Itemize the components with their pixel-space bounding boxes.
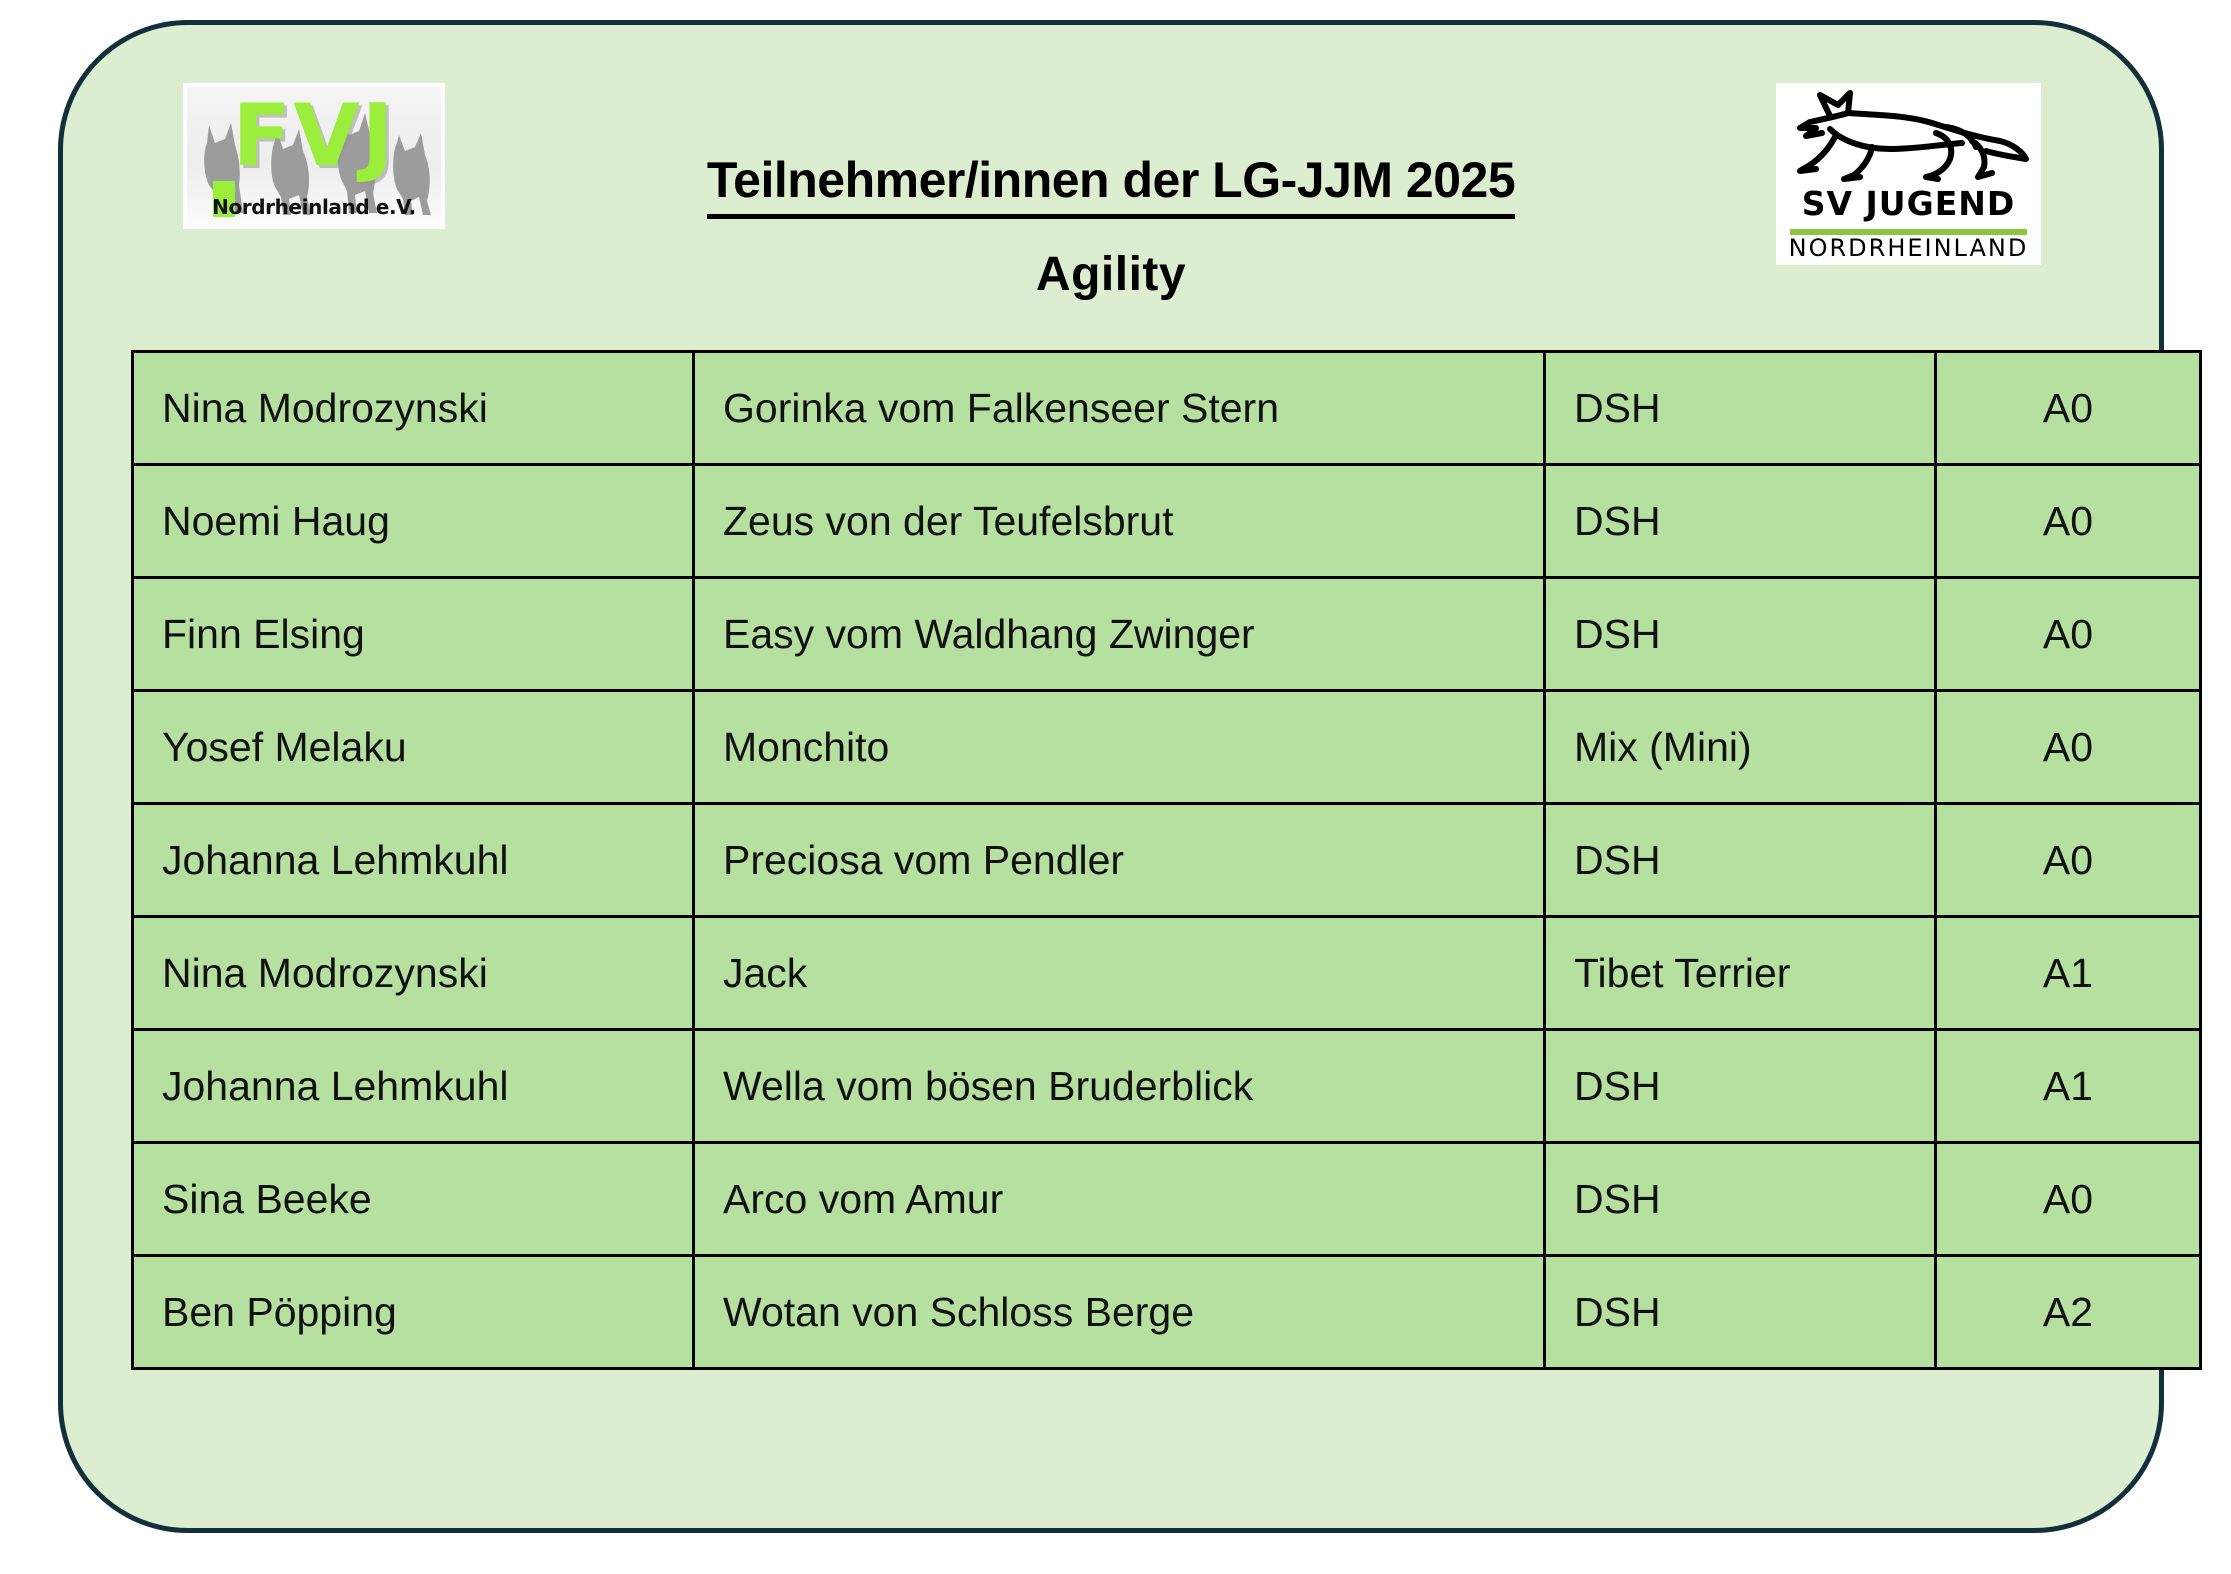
cell-handler: Sina Beeke bbox=[133, 1143, 694, 1256]
cell-class: A0 bbox=[1936, 804, 2201, 917]
cell-handler: Nina Modrozynski bbox=[133, 917, 694, 1030]
cell-dog: Gorinka vom Falkenseer Stern bbox=[694, 352, 1545, 465]
cell-dog: Wella vom bösen Bruderblick bbox=[694, 1030, 1545, 1143]
running-shepherd-dog-icon bbox=[1786, 89, 2031, 189]
cell-class: A1 bbox=[1936, 917, 2201, 1030]
cell-breed: Mix (Mini) bbox=[1545, 691, 1936, 804]
cell-class: A0 bbox=[1936, 691, 2201, 804]
cell-class: A0 bbox=[1936, 578, 2201, 691]
slide-panel: FVJ Nordrheinland e.V. Teilnehmer/innen … bbox=[58, 20, 2164, 1533]
page-title-text: Teilnehmer/innen der LG-JJM 2025 bbox=[707, 151, 1515, 219]
table-row: Ben Pöpping Wotan von Schloss Berge DSH … bbox=[133, 1256, 2201, 1369]
cell-breed: DSH bbox=[1545, 1143, 1936, 1256]
cell-class: A0 bbox=[1936, 465, 2201, 578]
cell-dog: Zeus von der Teufelsbrut bbox=[694, 465, 1545, 578]
cell-dog: Easy vom Waldhang Zwinger bbox=[694, 578, 1545, 691]
sv-jugend-subtitle: NORDRHEINLAND bbox=[1776, 235, 2041, 261]
cell-breed: Tibet Terrier bbox=[1545, 917, 1936, 1030]
table-row: Noemi Haug Zeus von der Teufelsbrut DSH … bbox=[133, 465, 2201, 578]
cell-class: A0 bbox=[1936, 352, 2201, 465]
cell-handler: Noemi Haug bbox=[133, 465, 694, 578]
table-row: Johanna Lehmkuhl Wella vom bösen Bruderb… bbox=[133, 1030, 2201, 1143]
cell-handler: Johanna Lehmkuhl bbox=[133, 804, 694, 917]
table-row: Finn Elsing Easy vom Waldhang Zwinger DS… bbox=[133, 578, 2201, 691]
cell-breed: DSH bbox=[1545, 1256, 1936, 1369]
table-row: Nina Modrozynski Jack Tibet Terrier A1 bbox=[133, 917, 2201, 1030]
cell-breed: DSH bbox=[1545, 804, 1936, 917]
cell-dog: Monchito bbox=[694, 691, 1545, 804]
cell-class: A0 bbox=[1936, 1143, 2201, 1256]
table-row: Yosef Melaku Monchito Mix (Mini) A0 bbox=[133, 691, 2201, 804]
cell-dog: Preciosa vom Pendler bbox=[694, 804, 1545, 917]
sv-jugend-dog-box bbox=[1786, 89, 2031, 189]
slide-header: FVJ Nordrheinland e.V. Teilnehmer/innen … bbox=[63, 25, 2159, 325]
cell-breed: DSH bbox=[1545, 578, 1936, 691]
sv-jugend-title: SV JUGEND bbox=[1776, 187, 2041, 220]
cell-breed: DSH bbox=[1545, 465, 1936, 578]
participants-table-body: Nina Modrozynski Gorinka vom Falkenseer … bbox=[133, 352, 2201, 1369]
cell-class: A1 bbox=[1936, 1030, 2201, 1143]
cell-handler: Nina Modrozynski bbox=[133, 352, 694, 465]
sv-jugend-logo: SV JUGEND NORDRHEINLAND bbox=[1776, 83, 2041, 265]
cell-dog: Wotan von Schloss Berge bbox=[694, 1256, 1545, 1369]
cell-breed: DSH bbox=[1545, 1030, 1936, 1143]
cell-class: A2 bbox=[1936, 1256, 2201, 1369]
table-row: Johanna Lehmkuhl Preciosa vom Pendler DS… bbox=[133, 804, 2201, 917]
cell-breed: DSH bbox=[1545, 352, 1936, 465]
table-row: Sina Beeke Arco vom Amur DSH A0 bbox=[133, 1143, 2201, 1256]
cell-handler: Johanna Lehmkuhl bbox=[133, 1030, 694, 1143]
cell-handler: Ben Pöpping bbox=[133, 1256, 694, 1369]
table-row: Nina Modrozynski Gorinka vom Falkenseer … bbox=[133, 352, 2201, 465]
participants-table: Nina Modrozynski Gorinka vom Falkenseer … bbox=[131, 350, 2202, 1370]
cell-handler: Yosef Melaku bbox=[133, 691, 694, 804]
cell-dog: Arco vom Amur bbox=[694, 1143, 1545, 1256]
cell-dog: Jack bbox=[694, 917, 1545, 1030]
cell-handler: Finn Elsing bbox=[133, 578, 694, 691]
